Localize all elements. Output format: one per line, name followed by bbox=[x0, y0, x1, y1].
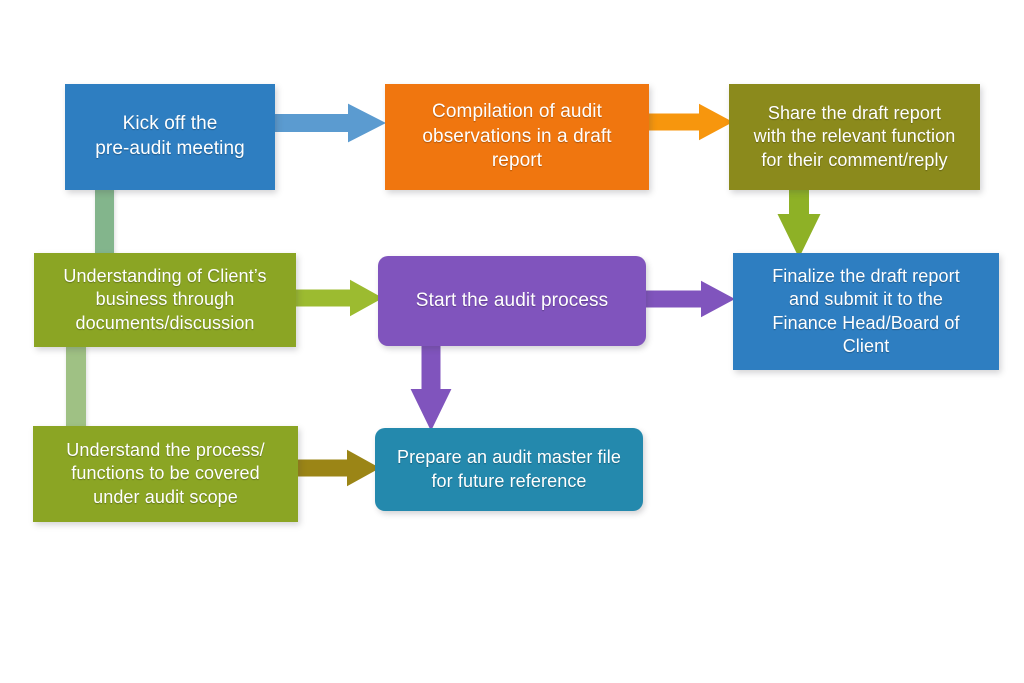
arrow-connector bbox=[294, 447, 380, 489]
arrow-shape bbox=[645, 104, 733, 141]
flow-node-label: Share the draft reportwith the relevant … bbox=[739, 102, 970, 172]
connector-bar bbox=[95, 186, 114, 256]
flow-node-label: Finalize the draft reportand submit it t… bbox=[743, 265, 989, 359]
flow-node-kick-off[interactable]: Kick off thepre-audit meeting bbox=[65, 84, 275, 190]
flow-node-label: Understand the process/functions to be c… bbox=[43, 439, 288, 509]
flow-node-label: Start the audit process bbox=[388, 289, 636, 314]
arrow-connector bbox=[645, 100, 733, 144]
flow-node-finalize-report[interactable]: Finalize the draft reportand submit it t… bbox=[733, 253, 999, 370]
flow-node-label: Understanding of Client’sbusiness throug… bbox=[44, 265, 286, 335]
flow-node-understand-process[interactable]: Understand the process/functions to be c… bbox=[33, 426, 298, 522]
flow-node-audit-master-file[interactable]: Prepare an audit master filefor future r… bbox=[375, 428, 643, 511]
arrow-connector bbox=[408, 343, 454, 431]
arrow-connector bbox=[272, 100, 386, 146]
arrow-connector bbox=[642, 278, 735, 320]
flow-node-share-draft[interactable]: Share the draft reportwith the relevant … bbox=[729, 84, 980, 190]
flow-node-label: Compilation of auditobservations in a dr… bbox=[395, 100, 639, 174]
flow-node-understanding-client[interactable]: Understanding of Client’sbusiness throug… bbox=[34, 253, 296, 347]
flow-node-label: Kick off thepre-audit meeting bbox=[75, 112, 265, 161]
flowchart-canvas: Kick off thepre-audit meetingCompilation… bbox=[0, 0, 1024, 683]
flow-node-compilation[interactable]: Compilation of auditobservations in a dr… bbox=[385, 84, 649, 190]
arrow-shape bbox=[778, 186, 821, 258]
arrow-shape bbox=[642, 281, 735, 318]
flow-node-label: Prepare an audit master filefor future r… bbox=[385, 446, 633, 493]
flow-node-start-audit[interactable]: Start the audit process bbox=[378, 256, 646, 346]
arrow-shape bbox=[272, 104, 386, 143]
arrow-shape bbox=[294, 450, 380, 487]
arrow-shape bbox=[293, 280, 383, 317]
arrow-connector bbox=[293, 277, 383, 319]
arrow-shape bbox=[411, 343, 452, 431]
arrow-connector bbox=[775, 186, 823, 258]
connector-bar bbox=[66, 345, 86, 430]
